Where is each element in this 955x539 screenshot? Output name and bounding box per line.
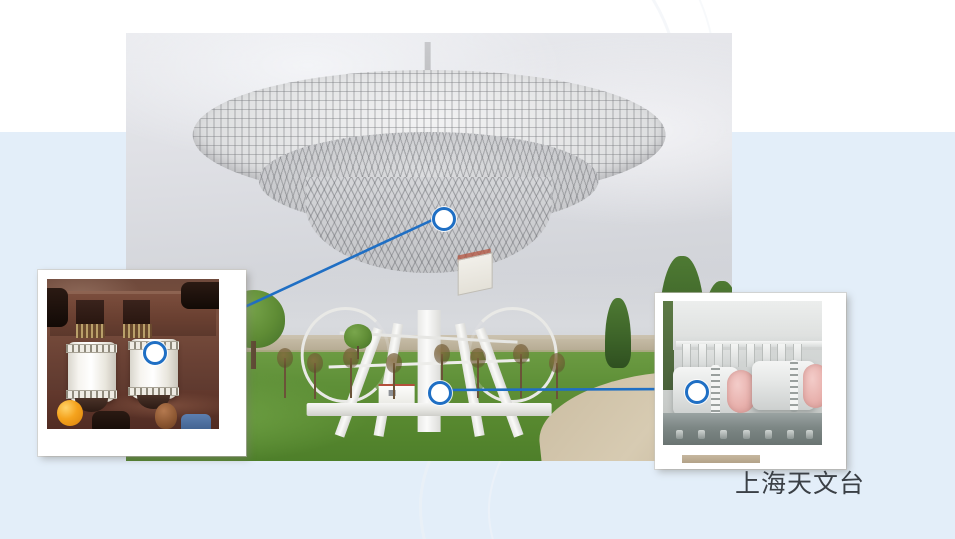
accent-bar xyxy=(682,455,760,463)
sapling xyxy=(556,363,558,399)
equipment-hut xyxy=(379,384,415,405)
pink-end-cap xyxy=(727,370,756,413)
marker-inset-left[interactable] xyxy=(143,341,167,365)
cooling-fin xyxy=(714,344,723,367)
anchor-bolt xyxy=(787,430,794,439)
cooling-fin xyxy=(682,344,691,367)
tree-trunk xyxy=(251,341,256,369)
tree-crown xyxy=(344,324,372,349)
anchor-bolt xyxy=(676,430,683,439)
anchor-bolt xyxy=(698,430,705,439)
conifer-tree xyxy=(605,298,631,368)
shadow-area xyxy=(47,288,68,327)
sapling xyxy=(284,358,286,398)
inset-left xyxy=(38,270,246,456)
cooling-fin xyxy=(698,344,707,367)
feed-cabin xyxy=(457,253,492,296)
antenna-mount xyxy=(290,298,569,444)
marker-telescope-azimuth[interactable] xyxy=(428,381,452,405)
bolt-ring xyxy=(66,390,117,399)
caption-label: 上海天文台 xyxy=(735,468,865,500)
inset-left-image xyxy=(47,279,219,429)
sapling xyxy=(350,358,352,398)
base-rail xyxy=(663,413,822,445)
cooling-fin xyxy=(730,344,739,367)
inset-right-image xyxy=(663,301,822,445)
sapling xyxy=(520,354,522,398)
gear-teeth xyxy=(123,324,152,338)
inset-right xyxy=(655,293,846,469)
foreground-shadow xyxy=(92,411,130,429)
bolt-ring xyxy=(128,387,179,396)
anchor-bolt xyxy=(720,430,727,439)
drive-flange xyxy=(790,360,798,413)
anchor-bolt xyxy=(743,430,750,439)
drive-flange xyxy=(711,365,720,418)
white-drive-cylinder xyxy=(68,342,116,402)
gearbox-opening xyxy=(123,300,151,327)
dish-backup-structure xyxy=(306,177,552,273)
sapling xyxy=(477,358,479,398)
shadow-area xyxy=(181,282,219,309)
pink-end-cap xyxy=(803,364,822,407)
gear-teeth xyxy=(76,324,105,338)
worker-head xyxy=(155,403,177,429)
azimuth-track xyxy=(306,403,551,416)
bolt-ring xyxy=(66,344,117,353)
gearbox-opening xyxy=(76,300,104,327)
sapling xyxy=(393,363,395,399)
anchor-bolt xyxy=(765,430,772,439)
anchor-bolt xyxy=(806,430,813,439)
marker-inset-right[interactable] xyxy=(685,380,709,404)
slide-canvas: 上海天文台 xyxy=(0,0,955,539)
worker-torso xyxy=(181,414,211,429)
sapling xyxy=(314,363,316,399)
marker-telescope-elevation[interactable] xyxy=(432,207,456,231)
